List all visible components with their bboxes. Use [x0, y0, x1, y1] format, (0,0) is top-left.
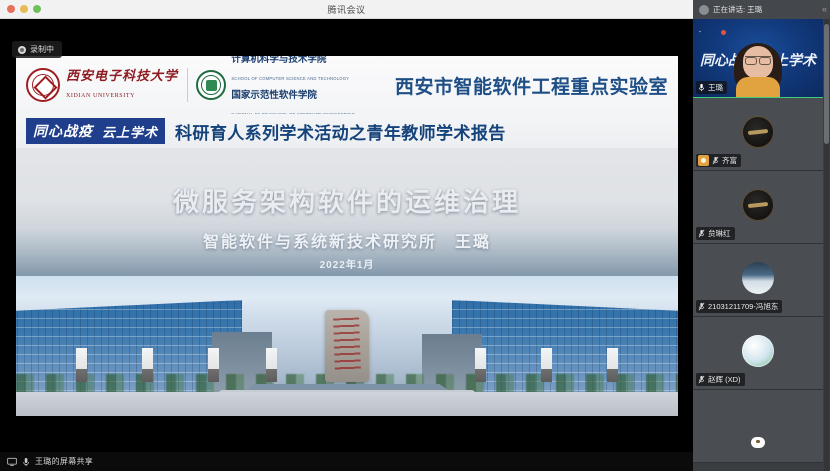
participant-name: 贠琳红 — [708, 228, 731, 239]
banner-pole-7-icon — [475, 348, 486, 382]
speaker-person-icon — [732, 39, 784, 97]
recording-label: 录制中 — [30, 44, 54, 55]
banner-pole-3-icon — [208, 348, 219, 382]
campaign-badge: 同心战疫 云上学术 — [26, 118, 165, 144]
xidian-wordmark: 西安电子科技大学 XIDIAN UNIVERSITY — [66, 68, 178, 102]
tencent-meeting-window: 腾讯会议 录制中 西安电子科技大学 XIDIAN UNIVERSITY 计算机科… — [0, 0, 830, 471]
participant-name: 赵辉 (XD) — [708, 374, 741, 385]
event-series-title: 科研育人系列学术活动之青年教师学术报告 — [175, 119, 506, 144]
slide-subtitle: 智能软件与系统新技术研究所 王璐 — [16, 228, 678, 252]
microphone-muted-icon — [698, 229, 705, 238]
university-name-en: XIDIAN UNIVERSITY — [66, 93, 135, 99]
university-name-cn: 西安电子科技大学 — [66, 68, 178, 83]
microphone-muted-icon — [698, 375, 705, 384]
slide-date: 2022年1月 — [16, 256, 678, 271]
banner-pole-6-icon — [541, 348, 552, 382]
banner-pole-1-icon — [76, 348, 87, 382]
participant-name-chip: 贠琳红 — [696, 227, 735, 240]
share-status-label: 王璐的屏幕共享 — [35, 456, 93, 467]
video-overlay-left-text: ∙ — [699, 29, 701, 36]
monitor-icon — [7, 457, 17, 467]
campaign-badge-right: 云上学术 — [102, 122, 158, 141]
participant-tile[interactable]: 21031211709-冯旭东 — [693, 244, 823, 317]
host-badge-icon — [698, 155, 709, 166]
active-speaker-label: 正在讲话: 王璐 — [713, 4, 762, 15]
school-wordmark: 计算机科学与技术学院 SCHOOL OF COMPUTER SCIENCE AN… — [231, 56, 383, 121]
video-overlay-dot-icon — [721, 30, 726, 35]
participant-name: 王璐 — [708, 82, 723, 93]
participant-tile[interactable]: 贠琳红 — [693, 171, 823, 244]
campus-photo — [16, 276, 678, 416]
recording-badge: 录制中 — [12, 41, 62, 58]
record-icon — [18, 46, 26, 54]
participant-name-chip: 王璐 — [696, 81, 727, 94]
participant-name-chip: 赵辉 (XD) — [696, 373, 745, 386]
presentation-slide: 西安电子科技大学 XIDIAN UNIVERSITY 计算机科学与技术学院 SC… — [16, 56, 678, 416]
avatar — [742, 335, 774, 367]
school-name-cn-2: 国家示范性软件学院 — [231, 90, 317, 101]
microphone-muted-icon — [712, 156, 719, 165]
campaign-badge-left: 同心战疫 — [33, 121, 93, 141]
participant-name: 21031211709-冯旭东 — [708, 301, 778, 312]
monument-inscription-icon — [333, 318, 361, 371]
shared-screen-stage: 录制中 西安电子科技大学 XIDIAN UNIVERSITY 计算机科学与技术学… — [0, 19, 693, 452]
participant-tile[interactable] — [693, 390, 823, 463]
school-seal-icon — [196, 70, 226, 100]
banner-pole-5-icon — [607, 348, 618, 382]
slide-banner: 同心战疫 云上学术 科研育人系列学术活动之青年教师学术报告 — [16, 114, 678, 148]
plaza-ground-icon — [16, 392, 678, 416]
sidebar-scrollbar-thumb[interactable] — [824, 24, 829, 144]
lab-title: 西安市智能软件工程重点实验室 — [395, 72, 668, 99]
slide-main-title: 微服务架构软件的运维治理 — [16, 182, 678, 219]
microphone-on-icon — [698, 83, 705, 92]
banner-pole-2-icon — [142, 348, 153, 382]
avatar — [742, 116, 774, 148]
microphone-icon — [22, 457, 30, 467]
school-name-cn-1: 计算机科学与技术学院 — [231, 56, 326, 65]
participant-name: 齐富 — [722, 155, 737, 166]
xidian-seal-icon — [26, 68, 60, 102]
collapse-sidebar-icon[interactable]: « — [822, 4, 825, 14]
avatar — [742, 189, 774, 221]
participant-tile[interactable]: 赵辉 (XD) — [693, 317, 823, 390]
microphone-muted-icon — [698, 302, 705, 311]
person-glasses-icon — [745, 56, 771, 62]
speaker-avatar-icon — [699, 5, 709, 15]
share-status-bar: 王璐的屏幕共享 — [0, 452, 693, 471]
participant-sidebar: 正在讲话: 王璐 « ∙ 同心战疫 云上学术 — [693, 0, 830, 471]
participant-tile-active[interactable]: ∙ 同心战疫 云上学术 王璐 — [693, 19, 823, 98]
avatar — [742, 262, 774, 294]
monument-stone-icon — [325, 310, 369, 382]
participant-name-chip: 21031211709-冯旭东 — [696, 300, 782, 313]
participant-name-chip: 齐富 — [696, 154, 741, 167]
school-name-en-1: SCHOOL OF COMPUTER SCIENCE AND TECHNOLOG… — [231, 76, 349, 81]
person-body-icon — [736, 77, 780, 97]
participant-tile-list[interactable]: ∙ 同心战疫 云上学术 王璐 — [693, 19, 830, 471]
window-title: 腾讯会议 — [0, 3, 693, 16]
banner-pole-4-icon — [266, 348, 277, 382]
active-speaker-header: 正在讲话: 王璐 « — [693, 0, 830, 19]
participant-tile[interactable]: 齐富 — [693, 98, 823, 171]
slide-header: 西安电子科技大学 XIDIAN UNIVERSITY 计算机科学与技术学院 SC… — [16, 56, 678, 114]
slide-body: 微服务架构软件的运维治理 智能软件与系统新技术研究所 王璐 2022年1月 — [16, 148, 678, 416]
titlebar: 腾讯会议 — [0, 0, 693, 19]
